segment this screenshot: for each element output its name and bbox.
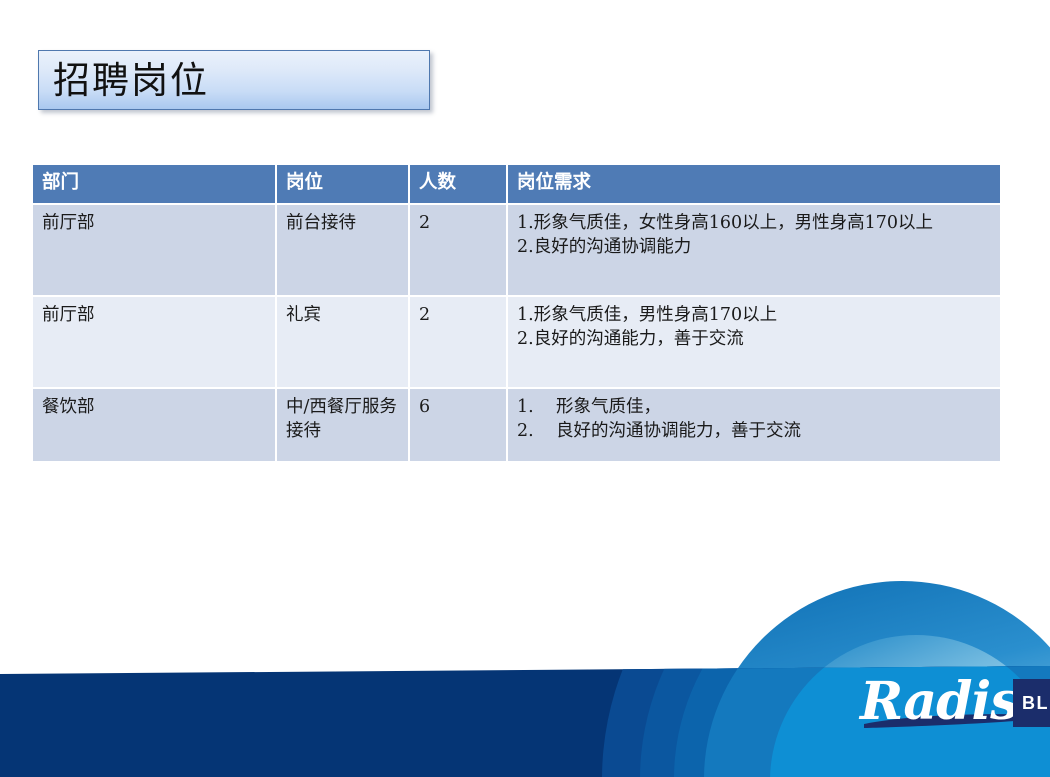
cell-position: 中/西餐厅服务接待 [277, 387, 410, 461]
column-header-position: 岗位 [277, 165, 410, 203]
cell-requirements: 1.形象气质佳，女性身高160以上，男性身高170以上 2.良好的沟通协调能力 [508, 203, 1000, 295]
slide-title-box: 招聘岗位 [38, 50, 430, 110]
table-row: 前厅部 前台接待 2 1.形象气质佳，女性身高160以上，男性身高170以上 2… [33, 203, 1000, 295]
cell-position: 前台接待 [277, 203, 410, 295]
table-header-row: 部门 岗位 人数 岗位需求 [33, 165, 1000, 203]
requirement-line: 2.良好的沟通协调能力 [517, 236, 991, 260]
column-header-headcount: 人数 [410, 165, 508, 203]
requirement-line: 2.良好的沟通能力，善于交流 [517, 328, 991, 352]
cell-department: 前厅部 [33, 203, 277, 295]
logo-badge-text: BLU [1022, 693, 1050, 713]
page-title: 招聘岗位 [39, 62, 209, 99]
footer-brand-graphic: Radisson BLU [0, 567, 1050, 777]
column-header-department: 部门 [33, 165, 277, 203]
cell-department: 前厅部 [33, 295, 277, 387]
cell-headcount: 2 [410, 203, 508, 295]
cell-headcount: 2 [410, 295, 508, 387]
column-header-requirements: 岗位需求 [508, 165, 1000, 203]
cell-headcount: 6 [410, 387, 508, 461]
cell-requirements: 1.形象气质佳，男性身高170以上 2.良好的沟通能力，善于交流 [508, 295, 1000, 387]
cell-department: 餐饮部 [33, 387, 277, 461]
requirement-line: 1. 形象气质佳， [517, 396, 991, 420]
cell-requirements: 1. 形象气质佳， 2. 良好的沟通协调能力，善于交流 [508, 387, 1000, 461]
radisson-logo: Radisson BLU [858, 671, 1050, 732]
requirement-line: 1.形象气质佳，男性身高170以上 [517, 304, 991, 328]
recruitment-table: 部门 岗位 人数 岗位需求 前厅部 前台接待 2 1.形象气质佳，女性身高160… [33, 165, 1000, 461]
slide-canvas: 招聘岗位 部门 岗位 人数 岗位需求 前厅部 前台接待 2 1.形象气质佳，女性… [0, 0, 1050, 777]
requirement-line: 2. 良好的沟通协调能力，善于交流 [517, 420, 991, 444]
requirement-line: 1.形象气质佳，女性身高160以上，男性身高170以上 [517, 212, 991, 236]
requirement-list: 1. 形象气质佳， 2. 良好的沟通协调能力，善于交流 [517, 396, 991, 443]
cell-position: 礼宾 [277, 295, 410, 387]
table-row: 餐饮部 中/西餐厅服务接待 6 1. 形象气质佳， 2. 良好的沟通协调能力，善… [33, 387, 1000, 461]
table-row: 前厅部 礼宾 2 1.形象气质佳，男性身高170以上 2.良好的沟通能力，善于交… [33, 295, 1000, 387]
